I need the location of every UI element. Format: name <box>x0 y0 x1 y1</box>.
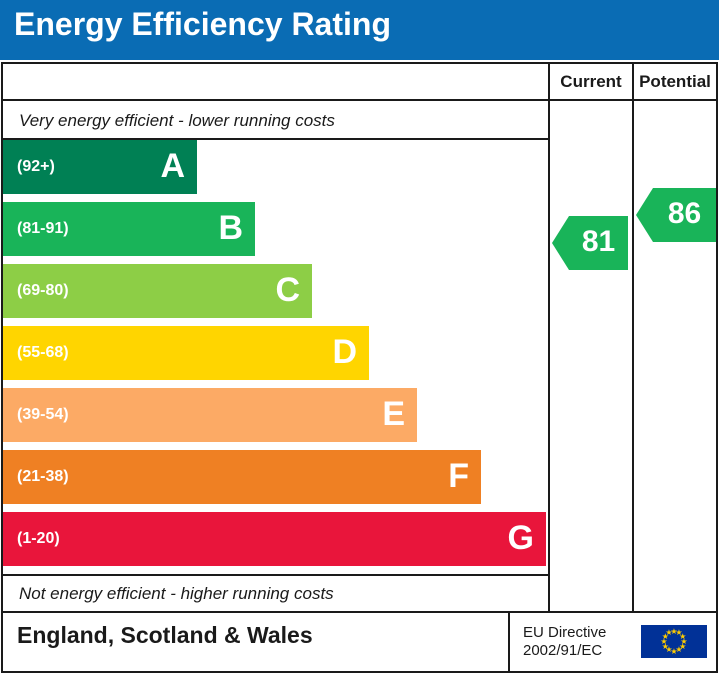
band-list: (92+)A(81-91)B(69-80)C(55-68)D(39-54)E(2… <box>3 140 548 574</box>
chart-frame: Current Potential Very energy efficient … <box>1 62 718 613</box>
rating-arrow-current: 81 <box>552 216 628 270</box>
band-letter-b: B <box>218 202 243 256</box>
footer-directive-line2: 2002/91/EC <box>523 642 606 660</box>
column-divider-1 <box>548 101 550 613</box>
band-range-f: (21-38) <box>17 450 69 504</box>
column-header-current: Current <box>548 64 632 99</box>
band-range-c: (69-80) <box>17 264 69 318</box>
footer-divider <box>508 613 510 671</box>
band-c: (69-80)C <box>3 264 312 318</box>
band-letter-d: D <box>332 326 357 380</box>
caption-very-efficient: Very energy efficient - lower running co… <box>3 105 548 137</box>
footer-directive-line1: EU Directive <box>523 624 606 642</box>
band-a: (92+)A <box>3 140 197 194</box>
eu-flag-icon: ★★★★★★★★★★★★ <box>641 625 707 658</box>
caption-not-efficient: Not energy efficient - higher running co… <box>3 576 548 611</box>
band-d: (55-68)D <box>3 326 369 380</box>
band-range-b: (81-91) <box>17 202 69 256</box>
band-g: (1-20)G <box>3 512 546 566</box>
band-b: (81-91)B <box>3 202 255 256</box>
band-letter-c: C <box>275 264 300 318</box>
rating-value-current: 81 <box>569 216 628 270</box>
band-letter-a: A <box>160 140 185 194</box>
band-letter-e: E <box>382 388 405 442</box>
footer-directive: EU Directive 2002/91/EC <box>523 624 606 660</box>
band-letter-g: G <box>508 512 534 566</box>
rating-value-potential: 86 <box>653 188 716 242</box>
column-header-potential: Potential <box>632 64 716 99</box>
arrow-tip-current <box>552 216 569 270</box>
band-letter-f: F <box>448 450 469 504</box>
column-divider-2 <box>632 101 634 613</box>
band-range-a: (92+) <box>17 140 55 194</box>
band-range-g: (1-20) <box>17 512 60 566</box>
band-f: (21-38)F <box>3 450 481 504</box>
footer-region-label: England, Scotland & Wales <box>17 622 313 649</box>
arrow-tip-potential <box>636 188 653 242</box>
chart-footer: England, Scotland & Wales EU Directive 2… <box>1 613 718 673</box>
band-e: (39-54)E <box>3 388 417 442</box>
eu-flag-star: ★ <box>665 629 673 637</box>
chart-title-bar: Energy Efficiency Rating <box>0 0 719 60</box>
band-range-e: (39-54) <box>17 388 69 442</box>
epc-certificate-chart: Energy Efficiency Rating Current Potenti… <box>0 0 719 675</box>
page-title: Energy Efficiency Rating <box>14 6 391 43</box>
column-header-row: Current Potential <box>3 64 716 101</box>
band-range-d: (55-68) <box>17 326 69 380</box>
rating-arrow-potential: 86 <box>636 188 716 242</box>
